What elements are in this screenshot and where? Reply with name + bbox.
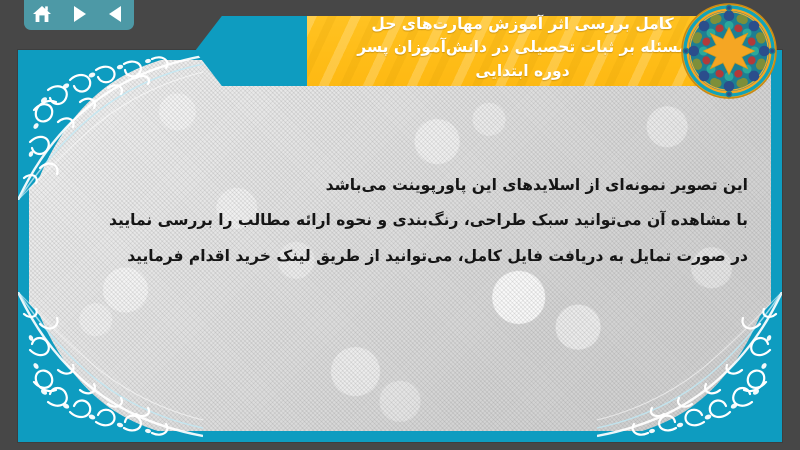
title-line-3: دوره ابتدایی [475,60,569,84]
title-line-2: مسئله بر ثبات تحصیلی در دانش‌آموزان پسر [357,36,688,60]
next-slide-button[interactable] [66,3,92,25]
home-button[interactable] [29,3,55,25]
presentation-slide: این تصویر نمونه‌ای از اسلایدهای این پاور… [18,50,782,442]
body-line-1: این تصویر نمونه‌ای از اسلایدهای این پاور… [58,168,748,203]
body-line-2: با مشاهده آن می‌توانید سبک طراحی، رنگ‌بن… [58,203,748,238]
slide-title-ribbon: کامل بررسی اثر آموزش مهارت‌های حل مسئله … [195,0,755,100]
body-line-3: در صورت تمایل به دریافت فایل کامل، می‌تو… [58,239,748,274]
slide-body-text: این تصویر نمونه‌ای از اسلایدهای این پاور… [58,168,748,274]
slide-stage: این تصویر نمونه‌ای از اسلایدهای این پاور… [0,0,800,450]
title-line-1: کامل بررسی اثر آموزش مهارت‌های حل [371,13,673,37]
ornamental-medallion [680,2,778,100]
slide-navigation-bar [24,0,134,30]
previous-slide-button[interactable] [103,3,129,25]
